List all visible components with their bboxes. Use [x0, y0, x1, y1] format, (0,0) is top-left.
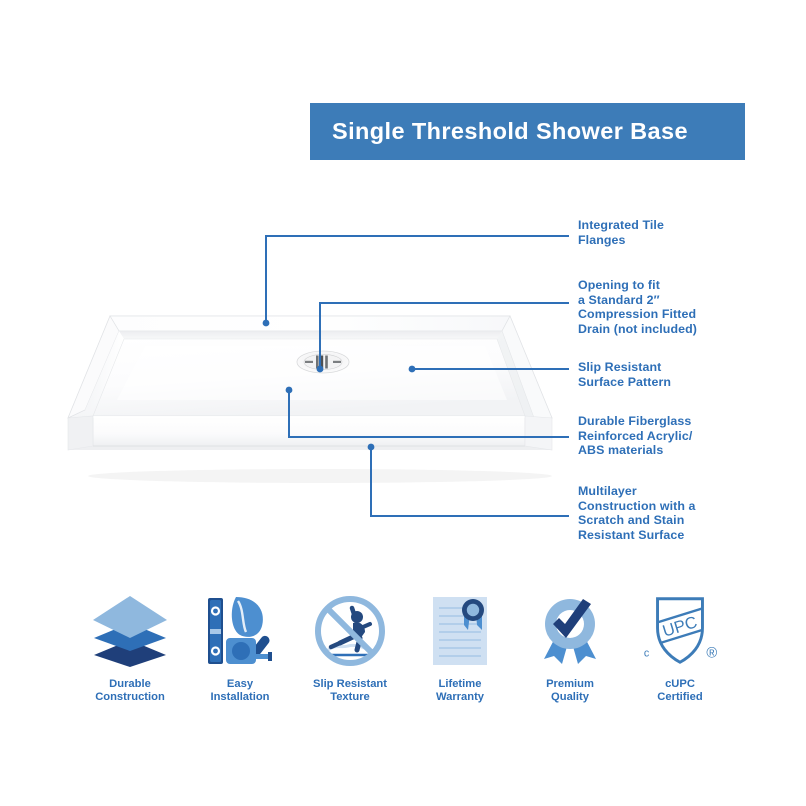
callout-drain-opening: Opening to fit a Standard 2″ Compression… [578, 278, 778, 336]
leader-line-multilayer-construction [371, 447, 568, 516]
leader-dot-durable-materials [286, 387, 293, 394]
leader-dot-slip-resistant-surface [409, 366, 416, 373]
quality-badge-icon [528, 592, 612, 670]
feature-label: Lifetime Warranty [436, 678, 484, 705]
feature-label: Durable Construction [95, 678, 165, 705]
cupc-shield-icon: UPC c ® [638, 592, 722, 670]
feature-easy-installation: Easy Installation [185, 592, 295, 705]
tools-icon [198, 592, 282, 670]
feature-label: Premium Quality [546, 678, 594, 705]
callout-durable-materials: Durable Fiberglass Reinforced Acrylic/ A… [578, 414, 778, 458]
certificate-icon [418, 592, 502, 670]
cupc-shield-mark: UPC [660, 612, 699, 640]
leader-dot-integrated-tile-flanges [263, 320, 270, 327]
feature-cupc-certified: UPC c ® cUPC Certified [625, 592, 735, 705]
feature-premium-quality: Premium Quality [515, 592, 625, 705]
leader-dot-multilayer-construction [368, 444, 375, 451]
feature-badges-row: Durable Construction [75, 592, 735, 717]
layers-icon [88, 592, 172, 670]
cupc-shield-prefix: c [644, 647, 650, 659]
feature-label: Slip Resistant Texture [313, 678, 387, 705]
feature-label: cUPC Certified [657, 678, 702, 705]
leader-line-drain-opening [320, 303, 568, 369]
infographic-canvas: Single Threshold Shower Base [0, 0, 806, 806]
no-slip-icon [308, 592, 392, 670]
callout-integrated-tile-flanges: Integrated Tile Flanges [578, 218, 778, 247]
callout-multilayer-construction: Multilayer Construction with a Scratch a… [578, 484, 778, 542]
callout-slip-resistant-surface: Slip Resistant Surface Pattern [578, 360, 778, 389]
leader-line-integrated-tile-flanges [266, 236, 568, 323]
leader-dot-drain-opening [317, 366, 324, 373]
cupc-shield-registered: ® [706, 645, 717, 661]
leader-line-durable-materials [289, 390, 568, 437]
feature-label: Easy Installation [210, 678, 269, 705]
feature-durable-construction: Durable Construction [75, 592, 185, 705]
feature-slip-resistant-texture: Slip Resistant Texture [295, 592, 405, 705]
feature-lifetime-warranty: Lifetime Warranty [405, 592, 515, 705]
